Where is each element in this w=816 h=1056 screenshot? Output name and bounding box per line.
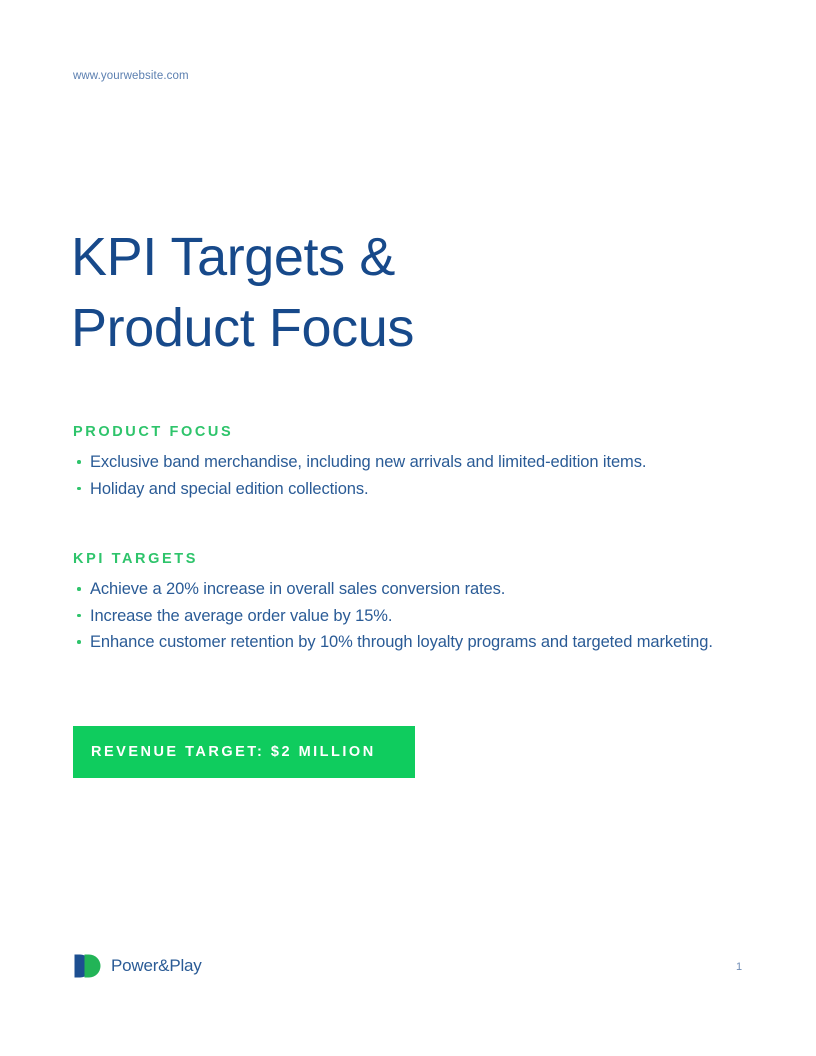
section-product-focus: PRODUCT FOCUS Exclusive band merchandise… — [73, 424, 763, 502]
bullet-list-product-focus: Exclusive band merchandise, including ne… — [73, 449, 763, 502]
section-heading-product-focus: PRODUCT FOCUS — [73, 424, 763, 440]
list-item-text: Holiday and special edition collections. — [90, 480, 369, 498]
bullet-dot-icon — [77, 614, 81, 618]
revenue-target-banner: REVENUE TARGET: $2 MILLION — [73, 726, 415, 778]
bullet-list-kpi-targets: Achieve a 20% increase in overall sales … — [73, 576, 763, 656]
document-page: www.yourwebsite.com KPI Targets & Produc… — [0, 0, 816, 1056]
double-d-logo-icon — [73, 953, 102, 979]
page-number: 1 — [736, 961, 742, 973]
bullet-dot-icon — [77, 487, 81, 491]
logo-text: Power&Play — [111, 956, 202, 976]
bullet-dot-icon — [77, 640, 81, 644]
page-title: KPI Targets & Product Focus — [71, 222, 414, 364]
list-item-text: Enhance customer retention by 10% throug… — [90, 633, 713, 651]
bullet-dot-icon — [77, 587, 81, 591]
list-item: Increase the average order value by 15%. — [73, 603, 763, 630]
list-item: Achieve a 20% increase in overall sales … — [73, 576, 763, 603]
section-kpi-targets: KPI TARGETS Achieve a 20% increase in ov… — [73, 551, 763, 656]
list-item: Enhance customer retention by 10% throug… — [73, 629, 763, 656]
list-item-text: Exclusive band merchandise, including ne… — [90, 453, 646, 471]
list-item-text: Achieve a 20% increase in overall sales … — [90, 580, 505, 598]
site-url: www.yourwebsite.com — [73, 70, 189, 82]
footer-logo: Power&Play — [73, 953, 202, 979]
list-item: Holiday and special edition collections. — [73, 476, 763, 503]
bullet-dot-icon — [77, 460, 81, 464]
revenue-target-label: REVENUE TARGET: $2 MILLION — [73, 744, 376, 760]
list-item-text: Increase the average order value by 15%. — [90, 607, 392, 625]
list-item: Exclusive band merchandise, including ne… — [73, 449, 763, 476]
section-heading-kpi-targets: KPI TARGETS — [73, 551, 763, 567]
